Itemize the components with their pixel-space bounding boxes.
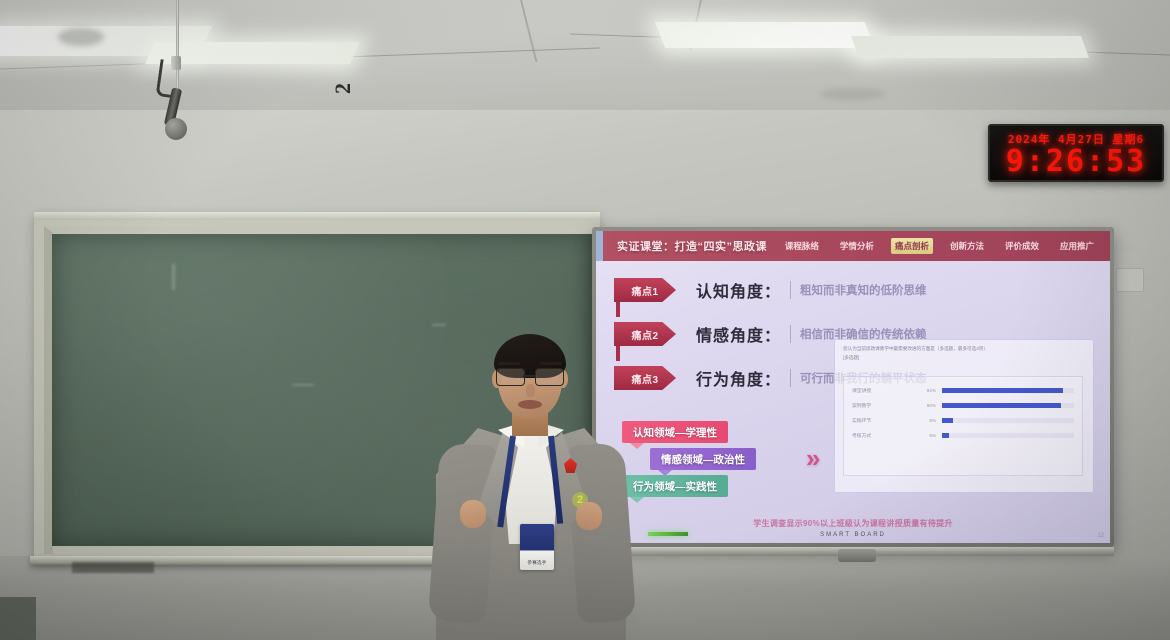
presenter-arm-right [566,442,636,624]
chalk-mark [172,264,175,290]
chart-category-label: 课堂讲授 [852,387,910,394]
presentation-slide[interactable]: 实证课堂：打造“四实”思政课 课程脉络 学情分析 痛点剖析 创新方法 评价成效 … [596,231,1110,543]
nav-item-kecheng-mailuo[interactable]: 课程脉络 [781,238,823,254]
display-brand-label: SMART BOARD [820,532,886,538]
chart-bar [942,403,1061,408]
painpoint-angle-2: 情感角度： [696,322,781,346]
chart-row: 案例教学 90% [852,399,1074,412]
domain-tag-behavioral-label: 行为领域—实践性 [633,479,717,494]
painpoint-divider [790,281,791,299]
survey-panel: 您认为当前思政课教学中最需要改进的方面是（多选题，最多可选3项） [多选题] 课… [834,339,1094,493]
presenter-hand-right [576,502,602,530]
painpoint-row-1: 痛点1 认知角度： 粗知而非真知的低阶思维 [614,275,927,305]
ceiling-vent [820,88,886,100]
survey-bar-chart: 课堂讲授 92% 案例教学 90% 实践环节 8% [843,376,1083,476]
slide-page-number: 12 [1097,533,1104,539]
ceiling-light [851,36,1089,58]
chart-row: 考核方式 5% [852,429,1074,442]
domain-tag-behavioral: 行为领域—实践性 [622,475,728,497]
microphone-icon [165,118,187,140]
chart-category-label: 实践环节 [852,417,910,424]
slide-header: 实证课堂：打造“四实”思政课 课程脉络 学情分析 痛点剖析 创新方法 评价成效 … [603,231,1110,261]
painpoint-divider [790,369,791,387]
painpoint-angle-1: 认知角度： [696,278,781,302]
painpoint-colon-3: ： [764,372,781,389]
presenter-badge-text: 参赛选手 [520,560,554,566]
power-indicator-icon [648,532,688,536]
nav-item-yingyong-tuiguang[interactable]: 应用推广 [1056,238,1098,254]
nav-item-pingjia-chengxiao[interactable]: 评价成效 [1001,238,1043,254]
wall-room-number: 2 [324,76,362,102]
chart-bar-track [942,418,1074,423]
slide-accent-bar [596,231,603,261]
presenter-badge: 2 参赛选手 [520,524,554,570]
chalk-tray-eraser[interactable] [72,562,154,573]
chart-row: 实践环节 8% [852,414,1074,427]
presenter-eyebrow-right [540,362,562,365]
domain-tag-group: 认知领域—学理性 情感领域—政治性 行为领域—实践性 » [622,421,822,499]
presenter-glasses-icon [496,368,564,385]
classroom-scene: 2 2024年 4月27日 星期6 9:26:53 实证课堂：打造“四实”思政课… [0,0,1170,640]
ceiling-light [655,22,876,48]
presenter: 2 参赛选手 [436,340,626,640]
chart-category-label: 考核方式 [852,432,910,439]
painpoint-angle-label-1: 认知角度 [696,284,764,301]
clock-time: 9:26:53 [990,144,1162,179]
ceiling-seam [520,0,537,62]
domain-tag-cognitive: 认知领域—学理性 [622,421,728,443]
chart-category-label: 案例教学 [852,402,910,409]
wall-smudge [640,580,900,640]
nav-item-xueqing-fenxi[interactable]: 学情分析 [836,238,878,254]
painpoint-tag-1: 痛点1 [614,278,676,302]
domain-tag-cognitive-label: 认知领域—学理性 [633,425,717,440]
domain-tag-emotional: 情感领域—政治性 [650,448,756,470]
painpoint-colon-1: ： [764,284,781,301]
wall-screw [1120,245,1136,252]
chart-value-label: 90% [910,403,936,408]
presenter-eyebrow-left [498,362,520,365]
nav-item-chuangxin-fangfa[interactable]: 创新方法 [946,238,988,254]
nav-item-tongdian-pouxi[interactable]: 痛点剖析 [891,238,933,254]
chart-bar [942,418,953,423]
chart-bar-track [942,403,1074,408]
presenter-mouth [518,400,542,409]
survey-caption: 学生调查显示90%以上班级认为课程讲授质量有待提升 [596,518,1110,529]
survey-question-text: 您认为当前思政课教学中最需要改进的方面是（多选题，最多可选3项） [843,346,988,351]
chalk-mark [432,324,446,326]
presenter-hand-left [460,500,486,528]
floor-object [0,597,36,640]
display-stand-knob[interactable] [838,549,876,562]
microphone-rod [176,0,179,92]
glasses-lens-left [496,368,525,386]
chart-value-label: 5% [910,433,936,438]
survey-question: 您认为当前思政课教学中最需要改进的方面是（多选题，最多可选3项） [多选题] [843,345,1085,362]
chart-bar [942,388,1063,393]
survey-question-type: [多选题] [843,355,859,360]
presenter-nose [526,384,535,397]
painpoint-angle-3: 行为角度： [696,366,781,390]
chalk-mark [292,384,314,386]
double-chevron-right-icon: » [806,443,816,474]
presenter-arm-left [428,442,498,624]
glasses-lens-right [535,368,564,386]
blackboard-frame [34,212,600,220]
chart-bar-track [942,388,1074,393]
chart-value-label: 8% [910,418,936,423]
ceiling-vent [58,28,104,46]
display-screen-area[interactable]: 实证课堂：打造“四实”思政课 课程脉络 学情分析 痛点剖析 创新方法 评价成效 … [596,231,1110,543]
slide-title: 实证课堂：打造“四实”思政课 [617,238,767,254]
led-clock: 2024年 4月27日 星期6 9:26:53 [988,124,1164,182]
painpoint-divider [790,325,791,343]
painpoint-desc-1: 粗知而非真知的低阶思维 [800,282,927,298]
painpoint-colon-2: ： [764,328,781,345]
slide-nav: 课程脉络 学情分析 痛点剖析 创新方法 评价成效 应用推广 [781,238,1098,254]
painpoint-angle-label-2: 情感角度 [696,328,764,345]
chart-row: 课堂讲授 92% [852,384,1074,397]
domain-tag-emotional-label: 情感领域—政治性 [661,452,745,467]
painpoint-angle-label-3: 行为角度 [696,372,764,389]
chart-bar-track [942,433,1074,438]
chart-value-label: 92% [910,388,936,393]
wall-switch-plate[interactable] [1116,268,1144,292]
chart-bar [942,433,949,438]
smart-display[interactable]: 实证课堂：打造“四实”思政课 课程脉络 学情分析 痛点剖析 创新方法 评价成效 … [592,227,1114,547]
